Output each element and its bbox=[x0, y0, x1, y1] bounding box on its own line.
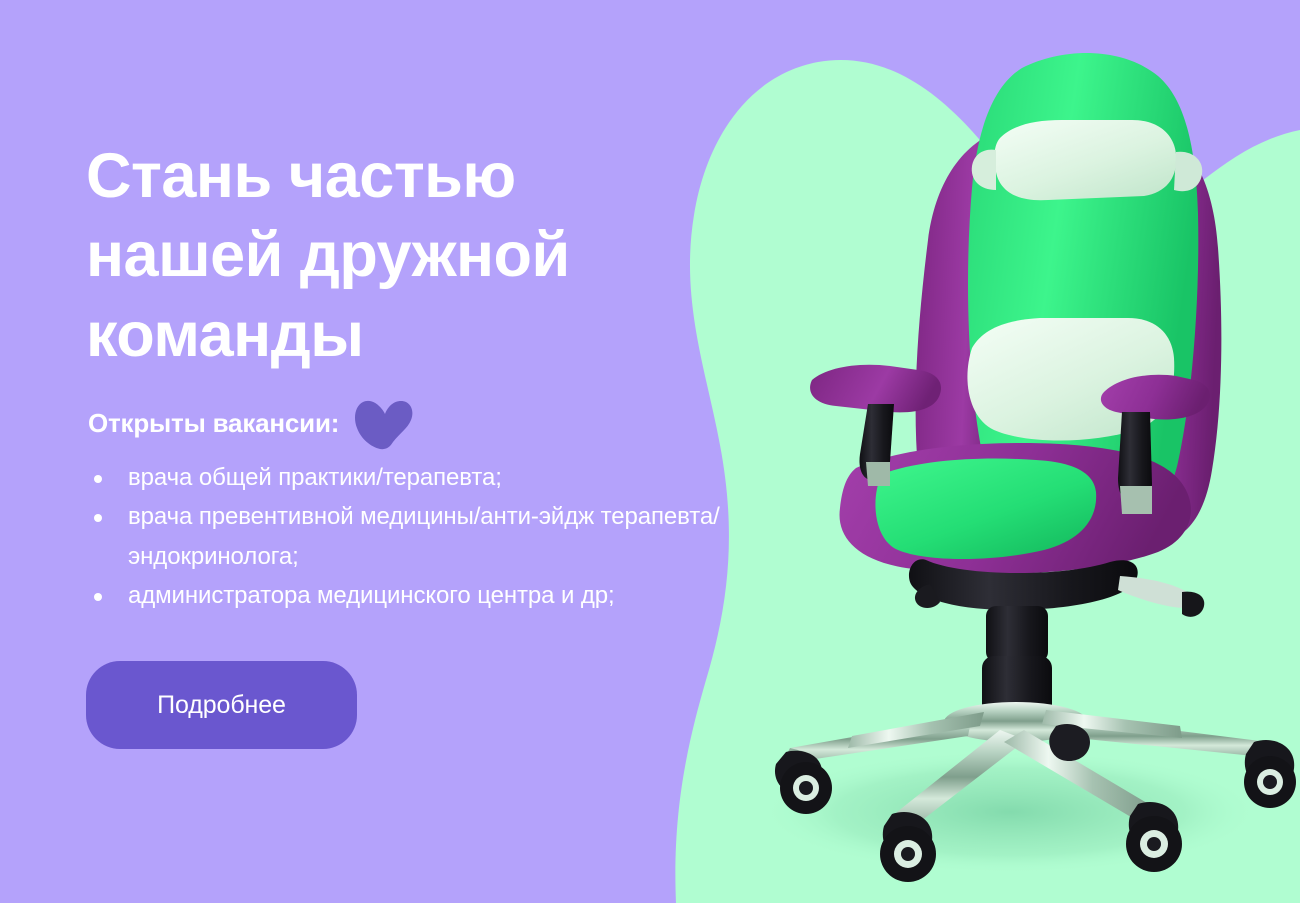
list-item: администратора медицинского центра и др; bbox=[92, 576, 852, 615]
job-openings-list: врача общей практики/терапевта; врача пр… bbox=[92, 458, 852, 615]
banner-content: Стань частью нашей дружной команды Откры… bbox=[86, 0, 876, 903]
promo-banner: Стань частью нашей дружной команды Откры… bbox=[0, 0, 1300, 903]
list-item: врача превентивной медицины/анти-эйдж те… bbox=[92, 497, 852, 576]
list-item: врача общей практики/терапевта; bbox=[92, 458, 852, 497]
vacancies-label: Открыты вакансии: bbox=[88, 408, 339, 439]
heart-icon bbox=[353, 398, 415, 450]
vacancies-heading: Открыты вакансии: bbox=[88, 396, 415, 450]
learn-more-button[interactable]: Подробнее bbox=[86, 661, 357, 749]
page-title: Стань частью нашей дружной команды bbox=[86, 137, 826, 375]
